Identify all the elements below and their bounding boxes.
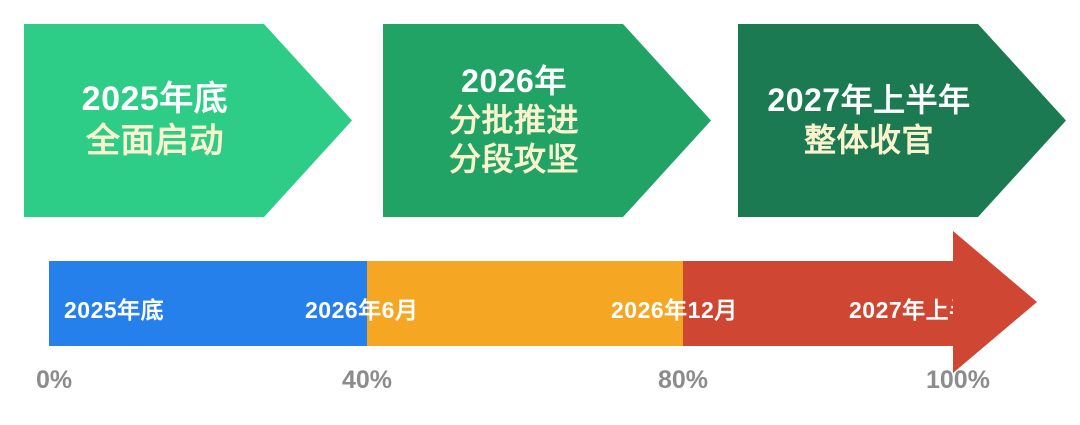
roadmap-infographic: 2025年底 全面启动 2026年 分批推进 分段攻坚 2027年上半年 整体收… xyxy=(0,0,1080,425)
axis-tick-40: 40% xyxy=(342,366,392,395)
percentage-axis: 0% 40% 80% 100% xyxy=(0,366,1080,406)
phase-chevron-2[interactable]: 2026年 分批推进 分段攻坚 xyxy=(383,24,711,217)
phase-1-title: 2025年底 xyxy=(82,79,229,120)
milestone-label-3: 2026年12月 xyxy=(611,291,738,325)
phase-3-subtitle-1: 整体收官 xyxy=(804,121,934,160)
phase-chevron-row: 2025年底 全面启动 2026年 分批推进 分段攻坚 2027年上半年 整体收… xyxy=(0,0,1080,240)
axis-tick-100: 100% xyxy=(926,366,990,395)
phase-2-subtitle-2: 分段攻坚 xyxy=(449,140,579,179)
arrow-head-icon xyxy=(953,231,1037,373)
axis-tick-80: 80% xyxy=(658,366,708,395)
axis-tick-0: 0% xyxy=(36,366,72,395)
phase-1-subtitle-1: 全面启动 xyxy=(86,121,224,162)
phase-2-subtitle-1: 分批推进 xyxy=(449,101,579,140)
phase-chevron-3[interactable]: 2027年上半年 整体收官 xyxy=(738,24,1066,217)
milestone-label-1: 2025年底 xyxy=(64,291,164,325)
milestone-label-2: 2026年6月 xyxy=(305,291,418,325)
phase-2-title: 2026年 xyxy=(461,62,567,101)
phase-chevron-1[interactable]: 2025年底 全面启动 xyxy=(24,24,352,217)
phase-3-title: 2027年上半年 xyxy=(767,81,970,120)
timeline-progress-bar: 2025年底 2026年6月 2026年12月 2027年上半年 xyxy=(49,261,953,346)
